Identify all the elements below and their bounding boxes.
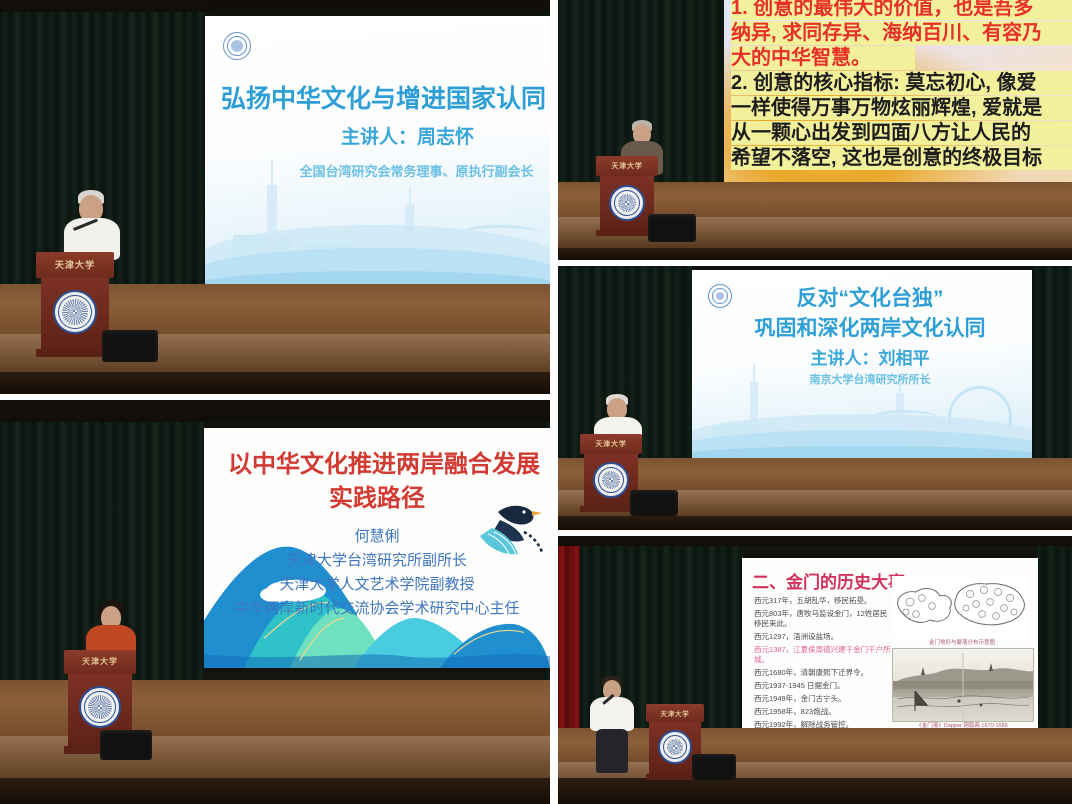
slide-affiliation: 全国台湾研究会常务理事、原执行副会长 (283, 164, 550, 180)
podium-label: 天津大学 (64, 656, 136, 667)
slide-speaker-label: 主讲人：周志怀 (265, 126, 550, 150)
stage-front-edge (0, 778, 550, 804)
slide-affiliation: 天津大学人文艺术学院副教授 (204, 576, 550, 595)
slide-affiliation: 天津大学台湾研究所副所长 (204, 552, 550, 571)
podium-label: 天津大学 (580, 439, 642, 449)
stage-monitor-speaker (692, 754, 736, 780)
slide-speaker-name: 何慧俐 (204, 528, 550, 547)
slide-line: 从一颗心出发到四面八方让人民的 (731, 121, 1072, 145)
stage-front-edge (558, 516, 1072, 530)
lecture-photo-content-slide[interactable]: 1. 创意的最伟大的价值，也是吾多 纳异, 求同存异、海纳百川、有容乃 大的中华… (558, 0, 1072, 260)
speaker-legs (596, 729, 628, 773)
slide-affiliation: 南京大学台湾研究所所长 (708, 374, 1032, 388)
projection-screen: 以中华文化推进两岸融合发展 实践路径 何慧俐 天津大学台湾研究所副所长 天津大学… (204, 428, 550, 668)
history-item-highlight: 西元1387，江夏侯周德兴建千金门千户所 (754, 644, 891, 655)
slide-line: 2. 创意的核心指标: 莫忘初心, 像爱 (731, 71, 1072, 95)
podium-seal-icon (609, 185, 645, 221)
history-item: 西元1949年，金门古宁头。 (754, 693, 846, 704)
slide-heading: 二、金门的历史大事 (752, 568, 905, 593)
kinmen-map-figure (892, 576, 1032, 638)
slide-skyline-watermark (205, 136, 550, 301)
slide-title: 弘扬中华文化与增进国家认同 (217, 84, 550, 115)
slide-line: 希望不落空, 这也是创意的终极目标 (731, 146, 1072, 170)
slide-line: 纳异, 求同存异、海纳百川、有容乃 (731, 21, 1072, 45)
engraving-details (893, 649, 1033, 721)
podium-seal-icon (658, 730, 692, 764)
slide-line: 1. 创意的最伟大的价值，也是吾多 (731, 0, 1072, 20)
stage-front-edge (558, 778, 1072, 804)
kinmen-map-drawing (892, 576, 1032, 638)
stage-curtain-right (1032, 266, 1072, 470)
lecture-photo-kinmen-history[interactable]: 二、金门的历史大事 西元317年，五胡乱华，移民拓垦。 西元803年，唐牧马监设… (558, 536, 1072, 804)
stage-front-edge (0, 372, 550, 394)
slide-line: 大的中华智慧。 (731, 46, 915, 70)
podium-seal-icon (593, 462, 629, 498)
slide-speaker-label: 主讲人：刘相平 (708, 348, 1032, 369)
history-slide-body: 二、金门的历史大事 西元317年，五胡乱华，移民拓垦。 西元803年，唐牧马监设… (742, 558, 1038, 740)
kinmen-engraving-figure (892, 648, 1034, 722)
history-item: 西元1937-1945 日据金门。 (754, 680, 844, 691)
projection-screen: 反对“文化台独” 巩固和深化两岸文化认同 主讲人：刘相平 南京大学台湾研究所所长 (692, 270, 1032, 466)
podium-label: 天津大学 (36, 258, 114, 271)
slide-title-line1: 以中华文化推进两岸融合发展 (218, 450, 550, 480)
slide-title-line2: 巩固和深化两岸文化认同 (708, 316, 1032, 342)
speaker-torso (590, 697, 634, 731)
slide-title-line1: 反对“文化台独” (708, 286, 1032, 312)
stage-monitor-speaker (648, 214, 696, 242)
stage-ceiling (0, 400, 550, 422)
projection-screen: 1. 创意的最伟大的价值，也是吾多 纳异, 求同存异、海纳百川、有容乃 大的中华… (724, 0, 1072, 190)
projection-screen: 弘扬中华文化与增进国家认同 主讲人：周志怀 全国台湾研究会常务理事、原执行副会长 (205, 16, 550, 301)
podium-seal-icon (79, 686, 121, 728)
podium-seal-icon (53, 290, 97, 334)
slide-affiliation: 中华两岸新时代交流协会学术研究中心主任 (204, 600, 550, 619)
history-item-highlight: 城。 (754, 654, 769, 665)
podium-label: 天津大学 (646, 708, 704, 718)
podium-label: 天津大学 (596, 161, 658, 171)
slide-line: 一样使得万事万物炫丽辉煌, 爱就是 (731, 96, 1072, 120)
figure-1-caption: 金门地形与聚落分布示意图 (892, 638, 1032, 646)
tianjin-university-seal-icon (223, 32, 251, 60)
history-item: 西元1297，浯洲设盐场。 (754, 631, 838, 642)
history-item: 西元1958年，823炮战。 (754, 706, 836, 717)
stage-front-edge (558, 248, 1072, 260)
stage-monitor-speaker (630, 490, 678, 516)
lecture-photo-liu-xiangping[interactable]: 反对“文化台独” 巩固和深化两岸文化认同 主讲人：刘相平 南京大学台湾研究所所长… (558, 266, 1072, 530)
lecture-photo-he-huidi[interactable]: 以中华文化推进两岸融合发展 实践路径 何慧俐 天津大学台湾研究所副所长 天津大学… (0, 400, 550, 804)
stage-curtain-red (558, 546, 580, 744)
lecture-photo-zhou-zhihuai[interactable]: 弘扬中华文化与增进国家认同 主讲人：周志怀 全国台湾研究会常务理事、原执行副会长… (0, 0, 550, 394)
lecture-collage: 弘扬中华文化与增进国家认同 主讲人：周志怀 全国台湾研究会常务理事、原执行副会长… (0, 0, 1072, 804)
stage-monitor-speaker (102, 330, 158, 362)
slide-skyline-watermark (692, 352, 1032, 466)
stage-curtain-right (1034, 546, 1072, 744)
history-item: 西元317年，五胡乱华，移民拓垦。 (754, 595, 872, 606)
stage-monitor-speaker (100, 730, 152, 760)
stage-ceiling (0, 0, 550, 12)
history-item: 移民来此。 (754, 618, 792, 629)
projection-screen: 二、金门的历史大事 西元317年，五胡乱华，移民拓垦。 西元803年，唐牧马监设… (742, 558, 1038, 740)
stage-ceiling (558, 536, 1072, 546)
speaker-figure (588, 676, 640, 776)
slide-title-line2: 实践路径 (204, 484, 550, 514)
history-item: 西元1680年，清朝康熙下迁界令。 (754, 667, 868, 678)
